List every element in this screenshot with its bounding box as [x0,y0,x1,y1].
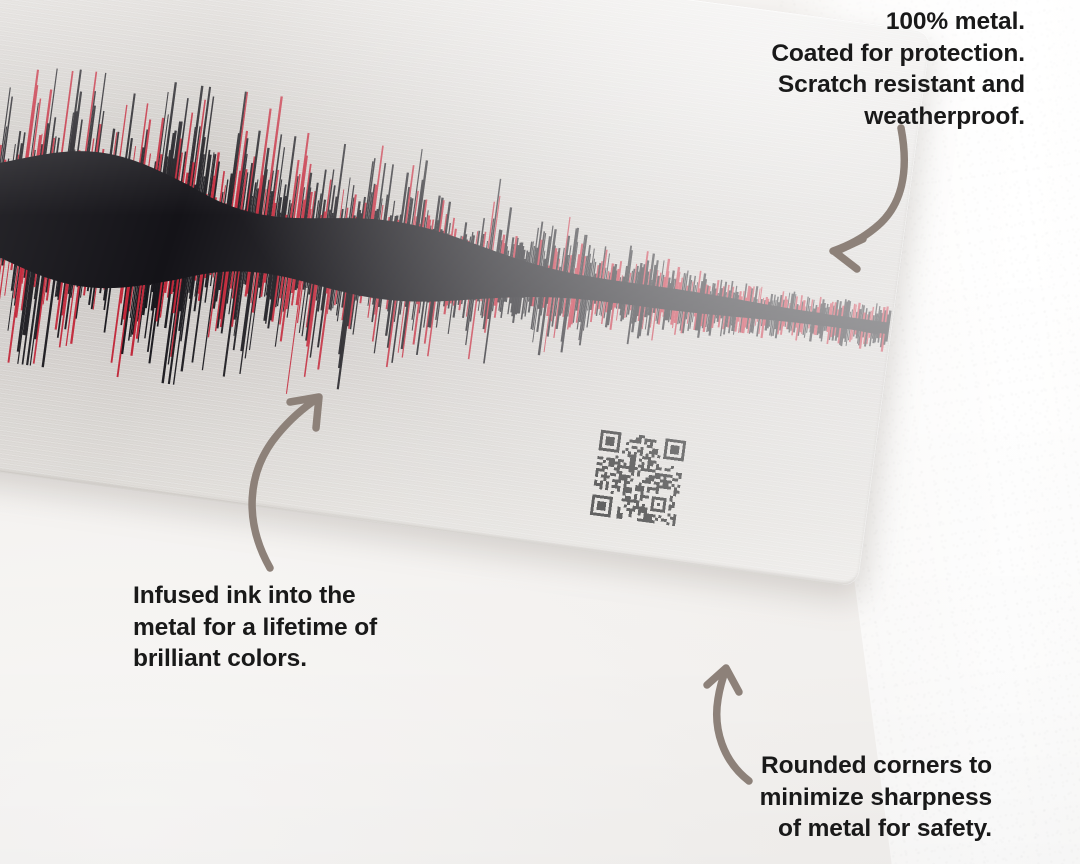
callout-material: 100% metal. Coated for protection. Scrat… [771,6,1025,132]
product-feature-image: 100% metal. Coated for protection. Scrat… [0,0,1080,864]
callout-corners: Rounded corners to minimize sharpness of… [760,750,992,845]
callout-ink: Infused ink into the metal for a lifetim… [133,580,377,675]
qr-code[interactable] [590,430,687,527]
